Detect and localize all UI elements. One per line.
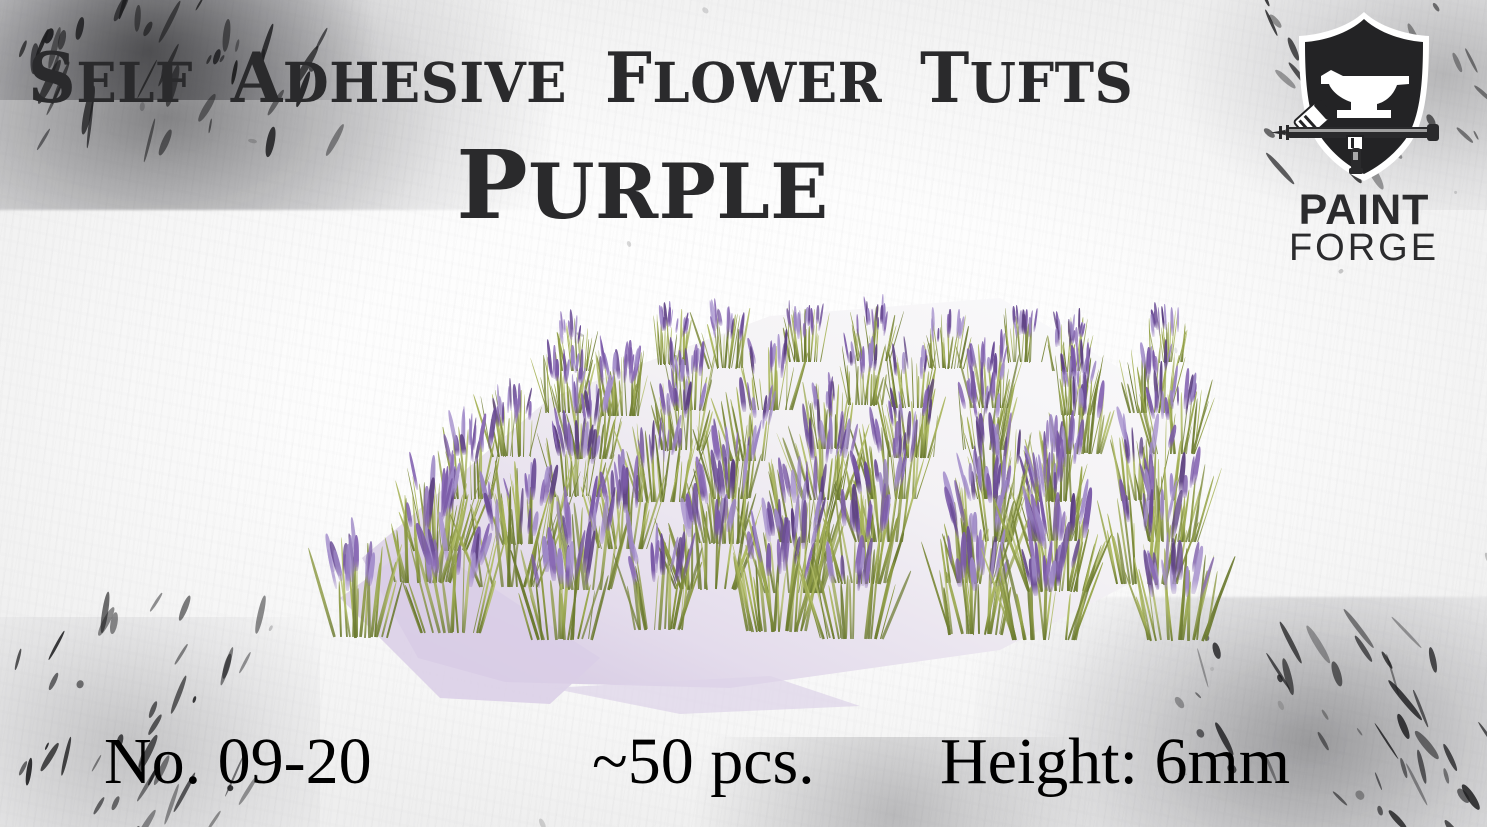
brand-logo: PAINT FORGE — [1269, 6, 1459, 256]
catalog-number: No. 09-20 — [104, 729, 372, 795]
product-package-card: SELF ADHESIVE FLOWER TUFTS PURPLE — [0, 0, 1487, 827]
page-title: SELF ADHESIVE FLOWER TUFTS — [28, 44, 1223, 113]
product-photo — [300, 258, 1230, 718]
color-name-title: PURPLE — [0, 138, 1285, 233]
flower-tuft — [941, 534, 1006, 635]
flower-tuft — [1145, 540, 1210, 640]
flower-tuft — [325, 537, 391, 638]
anvil-shield-airbrush-icon — [1269, 6, 1459, 191]
piece-count: ~50 pcs. — [592, 729, 815, 795]
brand-name-line2: FORGE — [1269, 231, 1459, 266]
flower-tuft — [816, 534, 884, 639]
flower-tuft — [627, 531, 691, 630]
flower-tuft — [1006, 306, 1043, 362]
flower-tuft — [528, 536, 595, 639]
brand-name-line1: PAINT — [1269, 191, 1459, 231]
tuft-height: Height: 6mm — [940, 729, 1290, 795]
flower-tuft — [418, 527, 487, 633]
flower-tuft — [1011, 537, 1078, 640]
